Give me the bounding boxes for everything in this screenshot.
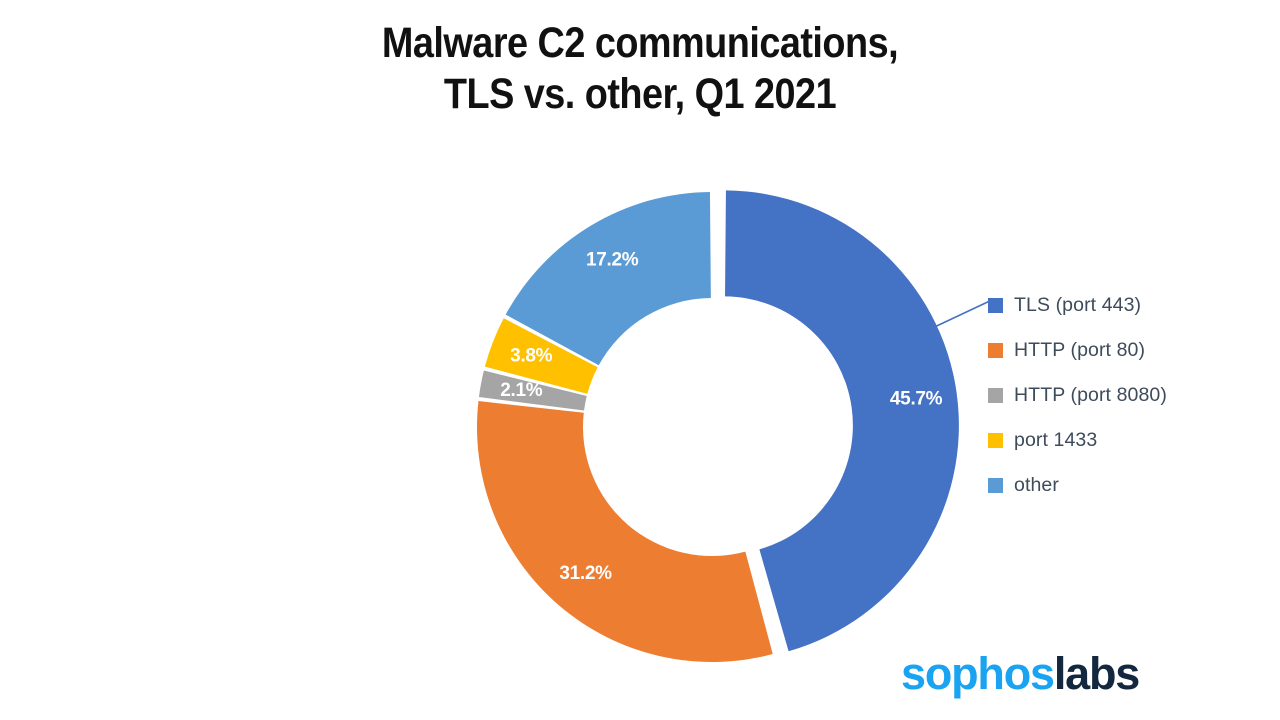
legend-item-label: port 1433 [1014, 429, 1097, 452]
legend-item-label: HTTP (port 8080) [1014, 384, 1167, 407]
logo-sophos-text: sophos [901, 648, 1054, 700]
donut-chart: 45.7%31.2%2.1%3.8%17.2% [430, 165, 990, 695]
legend-swatch-icon [988, 433, 1003, 448]
donut-slice-value-label: 17.2% [586, 250, 639, 271]
donut-slice-value-label: 3.8% [510, 346, 553, 367]
chart-legend: TLS (port 443)HTTP (port 80)HTTP (port 8… [988, 283, 1228, 508]
legend-item[interactable]: HTTP (port 8080) [988, 373, 1228, 418]
donut-slice[interactable] [477, 401, 773, 662]
legend-item[interactable]: port 1433 [988, 418, 1228, 463]
legend-swatch-icon [988, 388, 1003, 403]
donut-chart-svg: 45.7%31.2%2.1%3.8%17.2% [430, 165, 990, 695]
donut-slice-value-label: 2.1% [500, 380, 543, 401]
legend-item[interactable]: HTTP (port 80) [988, 328, 1228, 373]
legend-swatch-icon [988, 298, 1003, 313]
legend-swatch-icon [988, 478, 1003, 493]
legend-item[interactable]: other [988, 463, 1228, 508]
donut-slice-value-label: 31.2% [559, 563, 612, 584]
legend-item-label: HTTP (port 80) [1014, 339, 1145, 362]
donut-slice[interactable] [725, 190, 959, 651]
legend-item[interactable]: TLS (port 443) [988, 283, 1228, 328]
legend-item-label: TLS (port 443) [1014, 294, 1141, 317]
logo-labs-text: labs [1054, 648, 1139, 700]
donut-slice-value-label: 45.7% [890, 388, 943, 409]
page-title: Malware C2 communications, TLS vs. other… [77, 18, 1203, 119]
legend-swatch-icon [988, 343, 1003, 358]
sophoslabs-logo: sophoslabs [901, 648, 1139, 700]
legend-item-label: other [1014, 474, 1059, 497]
donut-slice-group [477, 190, 959, 662]
